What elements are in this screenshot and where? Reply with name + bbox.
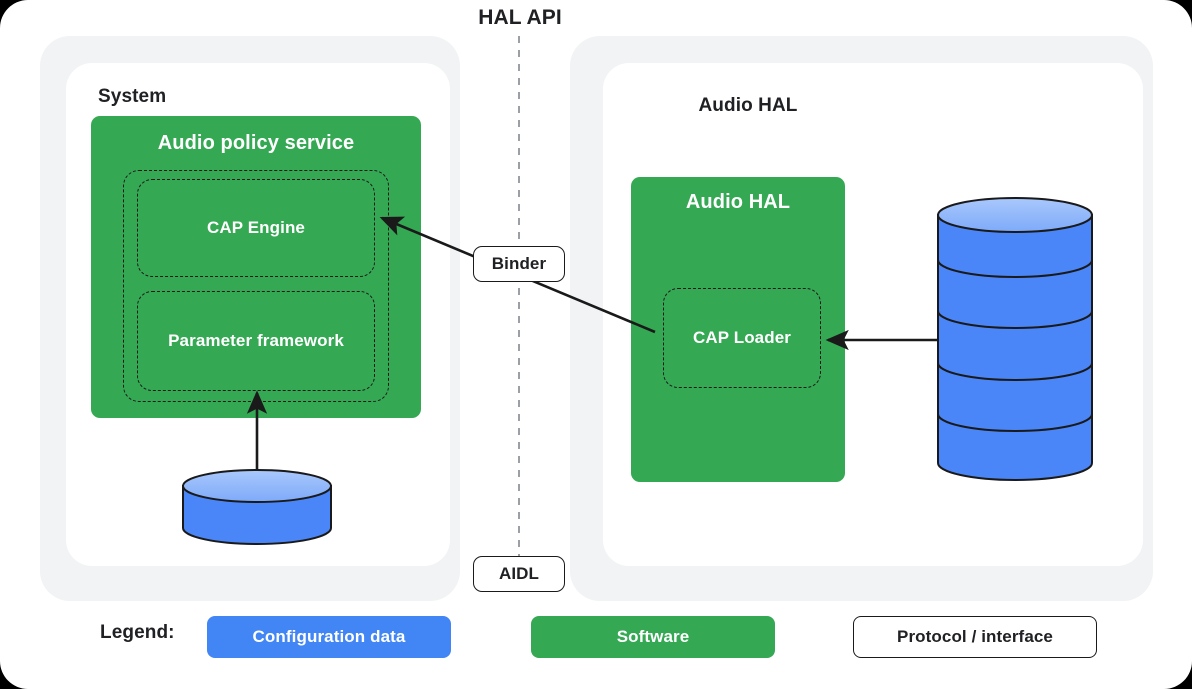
aidl-interface-pill[interactable]: AIDL	[473, 556, 565, 592]
cylinder-segment-label-settings: Settings	[941, 431, 1090, 451]
cylinder-segment-label-criteria: Criteria	[941, 382, 1090, 402]
cap-engine-label: CAP Engine	[138, 218, 374, 238]
right-panel-title: Audio HAL	[603, 95, 893, 117]
diagram-title: HAL API	[0, 6, 1040, 30]
cylinder-segment-label-configuration: Configuration	[941, 226, 1090, 246]
left-panel-title: System	[98, 86, 166, 108]
structure-cylinder-label: Structure	[183, 500, 331, 520]
cap-loader-label: CAP Loader	[664, 328, 820, 348]
binder-interface-pill[interactable]: Binder	[473, 246, 565, 282]
cap-loader-box: CAP Loader	[663, 288, 821, 388]
parameter-framework-label: Parameter framework	[138, 331, 374, 351]
cylinder-segment-label-strategies: Strategies	[941, 277, 1090, 297]
cap-engine-box: CAP Engine	[137, 179, 375, 277]
legend-chip-software: Software	[531, 616, 775, 658]
legend-label: Legend:	[100, 622, 175, 644]
cylinder-segment-label-volumes: Volumes	[941, 331, 1090, 351]
legend-chip-protocol-interface: Protocol / interface	[853, 616, 1097, 658]
audio-hal-label: Audio HAL	[631, 191, 845, 214]
legend-chip-configuration-data: Configuration data	[207, 616, 451, 658]
audio-policy-service-label: Audio policy service	[91, 132, 421, 155]
diagram-canvas: HAL API System Audio policy service CAP …	[0, 0, 1192, 689]
parameter-framework-box: Parameter framework	[137, 291, 375, 391]
